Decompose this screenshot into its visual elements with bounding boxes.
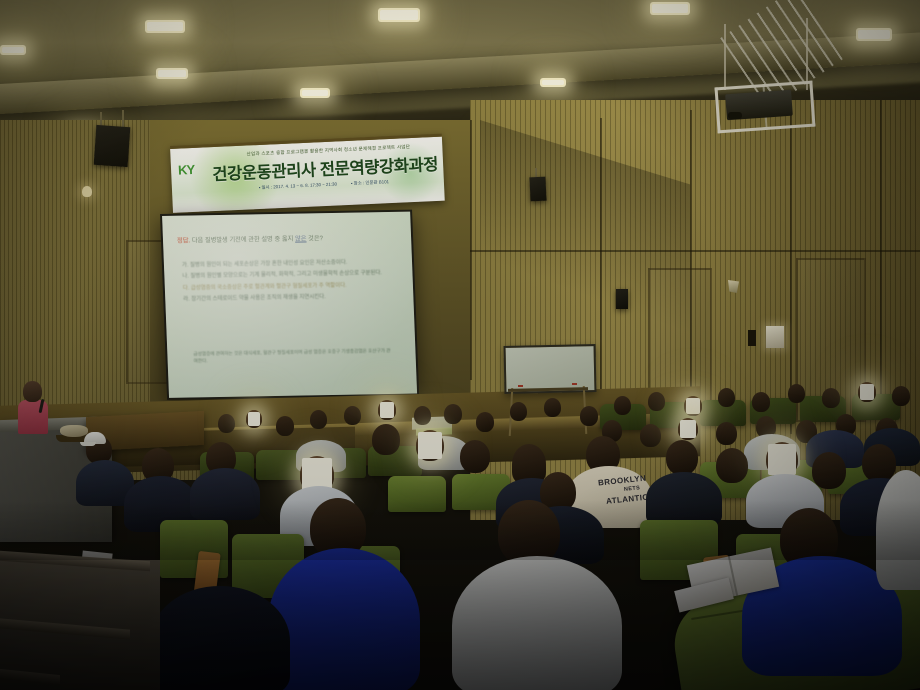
audience-head (684, 396, 702, 416)
projector-rod (724, 24, 726, 90)
audience-head (416, 430, 444, 461)
slide-choice: 다. 급성염증의 국소증상은 주로 혈관계와 혈관구 형질세포가 주 역할이다. (183, 281, 399, 293)
audience-head (460, 440, 490, 473)
banner-logo: KY (178, 162, 195, 178)
audience-head (666, 440, 698, 475)
ceiling-light (145, 20, 185, 33)
slide-question-negation: 않은 (295, 235, 307, 242)
audience-head (640, 424, 661, 447)
ceiling-light (156, 68, 188, 79)
whiteboard-marker (518, 385, 523, 387)
projector-lens (728, 112, 742, 119)
whiteboard-marker (572, 383, 577, 385)
ceiling-light (378, 8, 420, 22)
stage-item (60, 425, 88, 437)
audience-head (718, 388, 735, 407)
ceiling-light (300, 88, 330, 98)
audience-head (218, 414, 235, 433)
audience-torso-foreground (150, 586, 290, 690)
ceiling-light (540, 78, 566, 87)
audience-head (544, 398, 561, 417)
wall-speaker-right (529, 177, 546, 202)
wall-sconce (82, 186, 92, 197)
panel-seam (600, 118, 602, 418)
slide-choice: 가. 질병의 원인이 되는 세포손상은 가장 흔한 내인성 요인은 저산소증이다… (182, 258, 398, 270)
wall-light-opening (748, 330, 756, 346)
audience-head (648, 392, 665, 411)
audience-head (716, 422, 737, 445)
audience-head (414, 406, 431, 425)
lecture-hall-photo: KY 산업과 스포츠 융합 프로그램을 활용한 지역사회 청소년 문제해결 프로… (0, 0, 920, 690)
ceiling-light (0, 45, 26, 55)
slide-explanation-note: 급성염증에 관여하는 것은 대식세포, 혈관구 형질세포이며 급성 염증은 호중… (193, 348, 394, 365)
ceiling-light (650, 2, 690, 15)
audience-head (310, 410, 327, 429)
slide-question: 정답. 다음 질병발생 기전에 관한 설명 중 옳지 않은 것은? (177, 232, 401, 245)
audience-head (812, 452, 846, 489)
presenter-head (23, 381, 42, 402)
cap-brim (80, 442, 96, 446)
audience-head (678, 418, 698, 440)
projection-screen-frame: 정답. 다음 질병발생 기전에 관한 설명 중 옳지 않은 것은? 가. 질병의… (160, 210, 419, 400)
slide-choice-list: 가. 질병의 원인이 되는 세포손상은 가장 흔한 내인성 요인은 저산소증이다… (182, 258, 400, 307)
audience-head (444, 404, 462, 424)
audience-head (580, 406, 598, 426)
audience-head (378, 400, 396, 420)
audience-head (510, 402, 527, 421)
audience-head (788, 384, 805, 403)
audience-head (858, 382, 876, 402)
audience-head (372, 424, 400, 455)
slide-choice: 나. 질병의 원인별 모양으로는 기계 물리적, 화학적, 그리고 미생물학적 … (182, 269, 398, 281)
audience-head (344, 406, 361, 425)
speaker-bracket (122, 110, 124, 128)
audience-torso-foreground (268, 548, 420, 690)
slide-choice: 라. 장기간의 스테로이드 약물 사용은 조직의 재생을 지연시킨다. (183, 292, 399, 304)
projection-screen: 정답. 다음 질병발생 기전에 관한 설명 중 옳지 않은 것은? 가. 질병의… (162, 212, 417, 398)
audience-torso-foreground (452, 556, 622, 690)
slide-question-prefix: 정답. (177, 237, 190, 244)
slide-question-suffix: 것은? (308, 235, 323, 242)
wall-speaker-left (94, 125, 131, 167)
slide-question-body: 다음 질병발생 기전에 관한 설명 중 옳지 (192, 236, 294, 245)
audience-head (276, 416, 294, 436)
audience-head (822, 388, 840, 408)
projector-rod (806, 18, 808, 90)
audience-head (766, 442, 798, 477)
panel-seam (880, 100, 882, 420)
audience-head (476, 412, 494, 432)
audience-head (716, 448, 748, 483)
audience-head (614, 396, 631, 415)
event-banner: KY 산업과 스포츠 융합 프로그램을 활용한 지역사회 청소년 문제해결 프로… (170, 134, 445, 213)
presenter-torso (18, 400, 48, 434)
audience-head (892, 386, 910, 406)
wall-speaker-far-right (616, 289, 628, 309)
ceiling-light (856, 28, 892, 41)
wall-light-opening (766, 326, 784, 348)
audience-head (246, 410, 262, 428)
audience-head (752, 392, 770, 412)
panel-seam (470, 250, 920, 252)
row-shadow (0, 500, 920, 560)
